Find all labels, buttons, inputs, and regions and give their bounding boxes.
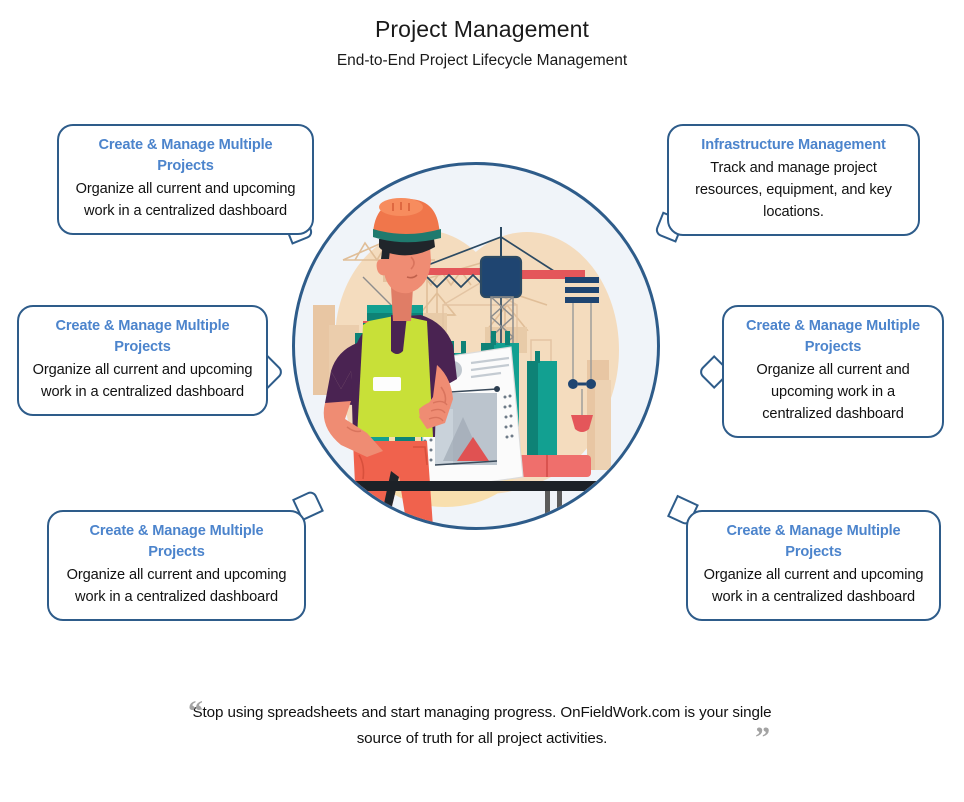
callout-body: Organize all current and upcoming work i… — [700, 564, 927, 608]
counterweights — [565, 277, 599, 303]
callout-middle-right[interactable]: Create & Manage Multiple Projects Organi… — [722, 305, 944, 438]
callout-middle-left[interactable]: Create & Manage Multiple Projects Organi… — [17, 305, 268, 416]
callout-top-left[interactable]: Create & Manage Multiple Projects Organi… — [57, 124, 314, 235]
footer-quote: “ Stop using spreadsheets and start mana… — [0, 700, 964, 752]
construction-worker-illustration — [295, 165, 657, 527]
callout-body: Organize all current and upcoming work i… — [736, 359, 930, 425]
quote-text: Stop using spreadsheets and start managi… — [193, 704, 772, 747]
header: Project Management End-to-End Project Li… — [0, 14, 964, 71]
callout-body: Organize all current and upcoming work i… — [31, 359, 254, 403]
callout-body: Track and manage project resources, equi… — [681, 157, 906, 223]
callout-heading: Create & Manage Multiple Projects — [700, 521, 927, 563]
central-illustration-circle — [292, 162, 660, 530]
infographic-canvas: Project Management End-to-End Project Li… — [0, 0, 964, 802]
callout-body: Organize all current and upcoming work i… — [61, 564, 292, 608]
callout-heading: Infrastructure Management — [681, 135, 906, 156]
page-subtitle: End-to-End Project Lifecycle Management — [0, 51, 964, 71]
callout-bottom-left[interactable]: Create & Manage Multiple Projects Organi… — [47, 510, 306, 621]
callout-body: Organize all current and upcoming work i… — [71, 178, 300, 222]
callout-bottom-right[interactable]: Create & Manage Multiple Projects Organi… — [686, 510, 941, 621]
callout-top-right[interactable]: Infrastructure Management Track and mana… — [667, 124, 920, 236]
callout-heading: Create & Manage Multiple Projects — [71, 135, 300, 177]
callout-heading: Create & Manage Multiple Projects — [31, 316, 254, 358]
callout-heading: Create & Manage Multiple Projects — [736, 316, 930, 358]
callout-heading: Create & Manage Multiple Projects — [61, 521, 292, 563]
page-title: Project Management — [0, 14, 964, 44]
quote-container: “ Stop using spreadsheets and start mana… — [182, 700, 782, 752]
